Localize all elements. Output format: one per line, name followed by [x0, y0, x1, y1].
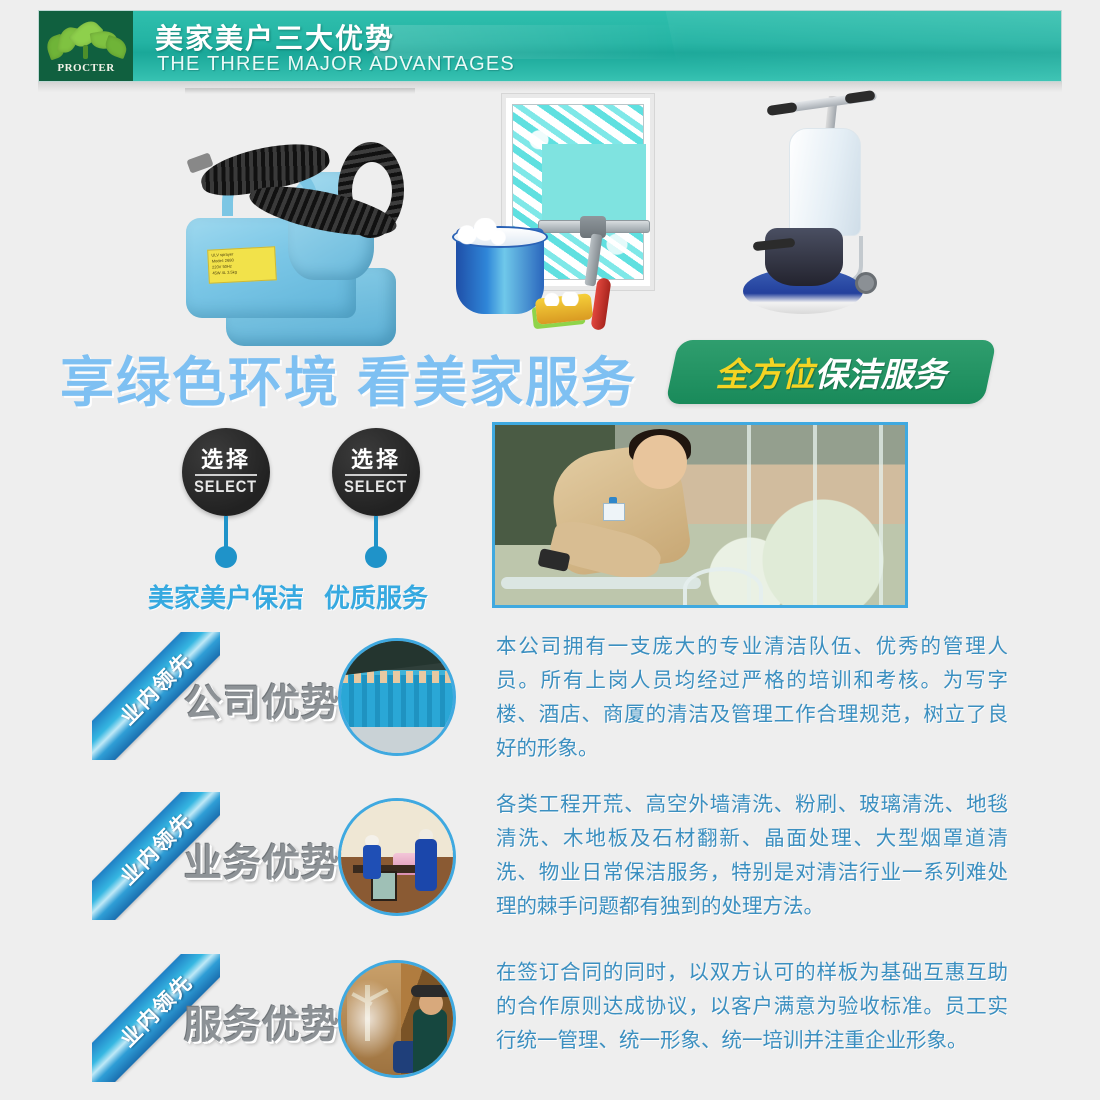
advantage-photo-1	[338, 638, 456, 756]
main-headline: 享绿色环境 看美家服务	[60, 338, 637, 417]
advantage-text-2: 各类工程开荒、高空外墙清洗、粉刷、玻璃清洗、地毯清洗、木地板及石材翻新、晶面处理…	[496, 788, 1008, 924]
ulv-sprayer-image: ULV sprayerModel: 2680220V 50Hz45W 4L 3.…	[170, 100, 410, 335]
select-badge-circle: 选择 SELECT	[182, 428, 270, 516]
header-sheen	[663, 10, 1062, 82]
advantage-row-3: 业内领先 服务优势 在签订合同的同时，以双方认可的样板为基础互惠互助的合作原则达…	[0, 950, 1100, 1100]
select-badge-en: SELECT	[345, 477, 408, 497]
advantage-title-2: 业务优势	[182, 832, 342, 887]
advantage-text-1: 本公司拥有一支庞大的专业清洁队伍、优秀的管理人员。所有上岗人员均经过严格的培训和…	[496, 630, 1008, 766]
select-badge-en: SELECT	[195, 477, 258, 497]
header-title-en: THE THREE MAJOR ADVANTAGES	[157, 53, 515, 76]
banner-highlight-text: 全方位	[716, 348, 815, 396]
select-badge-cn: 选择	[351, 448, 401, 472]
pin-dot	[365, 546, 387, 568]
worker-cleaning-photo	[492, 422, 908, 608]
pin-label-2: 优质服务	[284, 578, 468, 615]
select-badge-rule	[345, 474, 407, 476]
pin-dot	[215, 546, 237, 568]
promo-page: PROCTER 美家美户三大优势 THE THREE MAJOR ADVANTA…	[0, 0, 1100, 1096]
advantage-row-1: 业内领先 公司优势 本公司拥有一支庞大的专业清洁队伍、优秀的管理人员。所有上岗人…	[0, 628, 1100, 778]
banner-rest-text: 保洁服务	[815, 348, 947, 396]
advantage-title-3: 服务优势	[182, 994, 342, 1049]
floor-polisher-image	[715, 90, 915, 340]
green-banner-text: 全方位 保洁服务	[672, 340, 990, 404]
advantage-photo-3	[338, 960, 456, 1078]
select-badge-cn: 选择	[201, 448, 251, 472]
advantage-title-1: 公司优势	[182, 672, 342, 727]
product-image-strip: ULV sprayerModel: 2680220V 50Hz45W 4L 3.…	[0, 90, 1100, 345]
sprayer-label: ULV sprayerModel: 2680220V 50Hz45W 4L 3.…	[207, 246, 277, 284]
leaf-crown-icon	[47, 19, 125, 61]
company-logo: PROCTER	[39, 11, 133, 81]
advantage-row-2: 业内领先 业务优势 各类工程开荒、高空外墙清洗、粉刷、玻璃清洗、地毯清洗、木地板…	[0, 788, 1100, 938]
advantage-text-3: 在签订合同的同时，以双方认可的样板为基础互惠互助的合作原则达成协议，以客户满意为…	[496, 956, 1008, 1058]
logo-wordmark: PROCTER	[57, 62, 114, 74]
window-cleaning-image	[450, 90, 680, 340]
advantage-photo-2	[338, 798, 456, 916]
select-badge-rule	[195, 474, 257, 476]
page-header: PROCTER 美家美户三大优势 THE THREE MAJOR ADVANTA…	[38, 10, 1062, 82]
header-title-cn: 美家美户三大优势	[155, 17, 395, 57]
select-badge-circle: 选择 SELECT	[332, 428, 420, 516]
